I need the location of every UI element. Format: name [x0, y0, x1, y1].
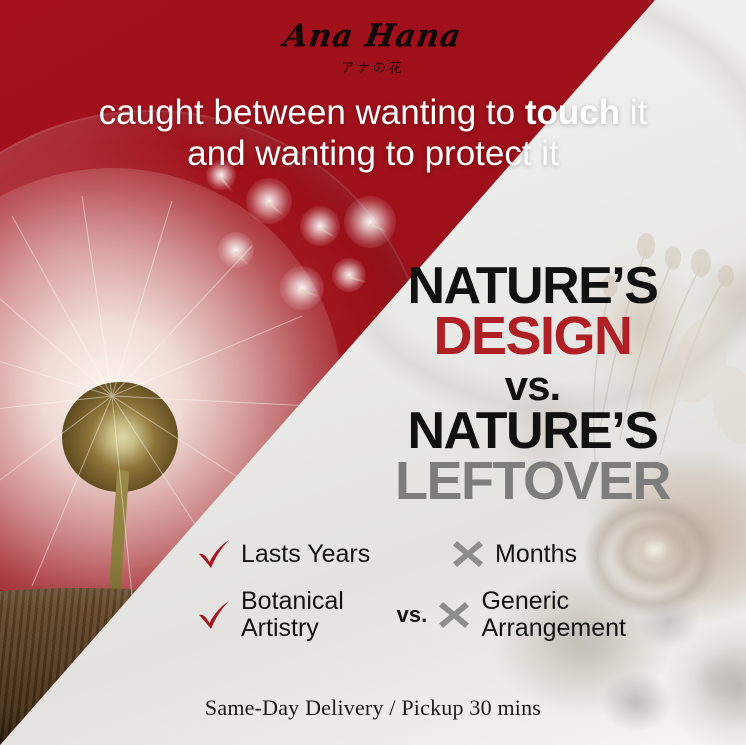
headline-line1-post: it	[620, 93, 647, 132]
comparison-pro-line1: Botanical	[241, 587, 344, 615]
comparison-pro-1: Lasts Years	[196, 536, 396, 572]
comparison-con-line1: Generic	[481, 587, 569, 615]
floating-seed-4	[218, 232, 254, 268]
heading-line-design: DESIGN	[395, 311, 670, 362]
promo-poster: Ana Hana アナの花 caught between wanting to …	[0, 0, 746, 745]
floating-seed-5	[280, 266, 324, 310]
cross-icon	[452, 538, 484, 570]
comparison-row: Botanical Artistry vs. Generic Arrangeme…	[196, 588, 626, 641]
check-icon	[196, 536, 232, 572]
comparison-con-2: Generic Arrangement	[438, 588, 626, 641]
headline-line1-pre: caught between wanting to	[99, 93, 525, 132]
headline-line2: and wanting to protect it	[0, 134, 746, 175]
comparison-con-label: Generic Arrangement	[481, 588, 626, 641]
cross-icon	[438, 599, 470, 631]
comparison-pro-line2: Artistry	[241, 614, 319, 642]
heading-line-natures-1: NATURE’S	[395, 262, 670, 311]
comparison-con-label: Months	[495, 541, 577, 568]
comparison-pro-label: Lasts Years	[241, 541, 370, 568]
comparison-con-line2: Arrangement	[481, 614, 626, 642]
floating-seed-6	[332, 258, 366, 292]
brand-name: Ana Hana	[281, 18, 464, 54]
floating-seed-2	[300, 206, 340, 246]
brand-name-japanese: アナの花	[0, 57, 746, 76]
floating-seed-3	[344, 196, 396, 248]
comparison-heading: NATURE’S DESIGN vs. NATURE’S LEFTOVER	[395, 262, 670, 507]
heading-line-vs: vs.	[395, 366, 670, 405]
comparison-pro-2: Botanical Artistry	[196, 588, 385, 641]
comparison-separator: vs.	[385, 602, 438, 628]
brand-logo: Ana Hana アナの花	[0, 18, 746, 76]
delivery-info: Same-Day Delivery / Pickup 30 mins	[0, 695, 746, 721]
comparison-row: Lasts Years Months	[196, 536, 626, 572]
heading-line-natures-2: NATURE’S	[395, 407, 670, 456]
page-title: caught between wanting to touch it and w…	[0, 93, 746, 174]
heading-line-leftover: LEFTOVER	[395, 456, 670, 507]
headline-emphasis: touch	[525, 93, 620, 132]
check-icon	[196, 597, 232, 633]
floating-seed-1	[246, 178, 292, 224]
comparison-pro-label: Botanical Artistry	[241, 588, 344, 641]
comparison-con-1: Months	[452, 538, 626, 570]
comparison-list: Lasts Years Months Botanical Artistry	[196, 536, 626, 641]
